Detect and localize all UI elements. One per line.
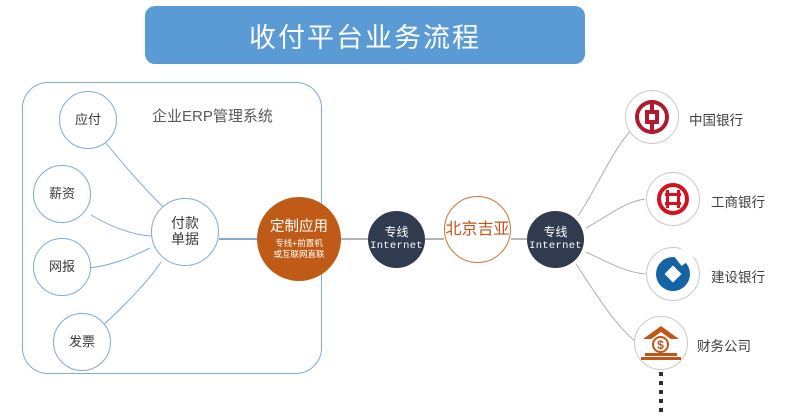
ellipsis-dot — [659, 372, 663, 376]
finance-company-icon: $ — [641, 326, 681, 360]
ellipsis-dot — [659, 381, 663, 385]
dedicated-line-label: 专线 — [384, 226, 408, 239]
page-title-banner: 收付平台业务流程 — [145, 6, 585, 64]
bank-node-ccb[interactable] — [646, 247, 700, 301]
beijing-jiya-label: 北京吉亚 — [445, 221, 509, 239]
bank-label-finance-company: 财务公司 — [697, 335, 751, 355]
bank-label-ccb: 建设银行 — [711, 266, 765, 286]
bank-of-china-logo-icon — [635, 100, 669, 134]
ccb-logo-icon — [656, 257, 690, 291]
dedicated-line-node-right[interactable]: 专线 Internet — [527, 211, 584, 268]
erp-system-label: 企业ERP管理系统 — [152, 105, 273, 126]
internet-label: Internet — [529, 241, 582, 253]
erp-node-label: 薪资 — [49, 187, 75, 202]
erp-node-payment-voucher[interactable]: 付款 单据 — [151, 198, 219, 266]
dedicated-line-label: 专线 — [543, 226, 567, 239]
internet-label: Internet — [370, 241, 423, 253]
custom-application-title: 定制应用 — [270, 219, 328, 235]
bank-node-boc[interactable] — [625, 90, 679, 144]
erp-node-accounts-payable[interactable]: 应付 — [59, 91, 117, 149]
bank-node-icbc[interactable] — [646, 172, 700, 226]
bank-node-finance-company[interactable]: $ — [634, 316, 688, 370]
page-title: 收付平台业务流程 — [249, 16, 481, 55]
diagram-canvas: 收付平台业务流程 企业ERP管理系统 应付 薪资 网报 发票 — [0, 0, 795, 417]
erp-node-label: 发票 — [69, 335, 95, 350]
coin-symbol: $ — [652, 336, 669, 353]
bank-label-boc: 中国银行 — [689, 109, 743, 129]
wire-linkright-to-ccb — [586, 252, 645, 274]
ellipsis-dot — [659, 408, 663, 412]
beijing-jiya-hub-node[interactable]: 北京吉亚 — [444, 196, 511, 263]
wire-linkright-to-boc — [578, 128, 633, 216]
more-banks-ellipsis — [659, 372, 663, 412]
custom-application-sub1: 专线+前置机 — [275, 238, 322, 249]
erp-node-web-report[interactable]: 网报 — [33, 238, 91, 296]
dedicated-line-node-left[interactable]: 专线 Internet — [368, 211, 425, 268]
erp-node-label: 网报 — [49, 260, 75, 275]
bank-label-icbc: 工商银行 — [711, 191, 765, 211]
wire-linkright-to-finco — [576, 264, 636, 342]
ellipsis-dot — [659, 390, 663, 394]
erp-node-invoice[interactable]: 发票 — [53, 313, 111, 371]
erp-node-salary[interactable]: 薪资 — [33, 165, 91, 223]
custom-application-node[interactable]: 定制应用 专线+前置机 或互联网直联 — [257, 197, 341, 281]
custom-application-sub2: 或互联网直联 — [273, 249, 324, 260]
icbc-logo-icon — [657, 183, 689, 215]
wire-linkright-to-icbc — [586, 199, 645, 228]
ellipsis-dot — [659, 399, 663, 403]
erp-node-label: 应付 — [75, 113, 101, 128]
payment-voucher-line2: 单据 — [171, 232, 199, 248]
payment-voucher-line1: 付款 — [171, 216, 199, 232]
